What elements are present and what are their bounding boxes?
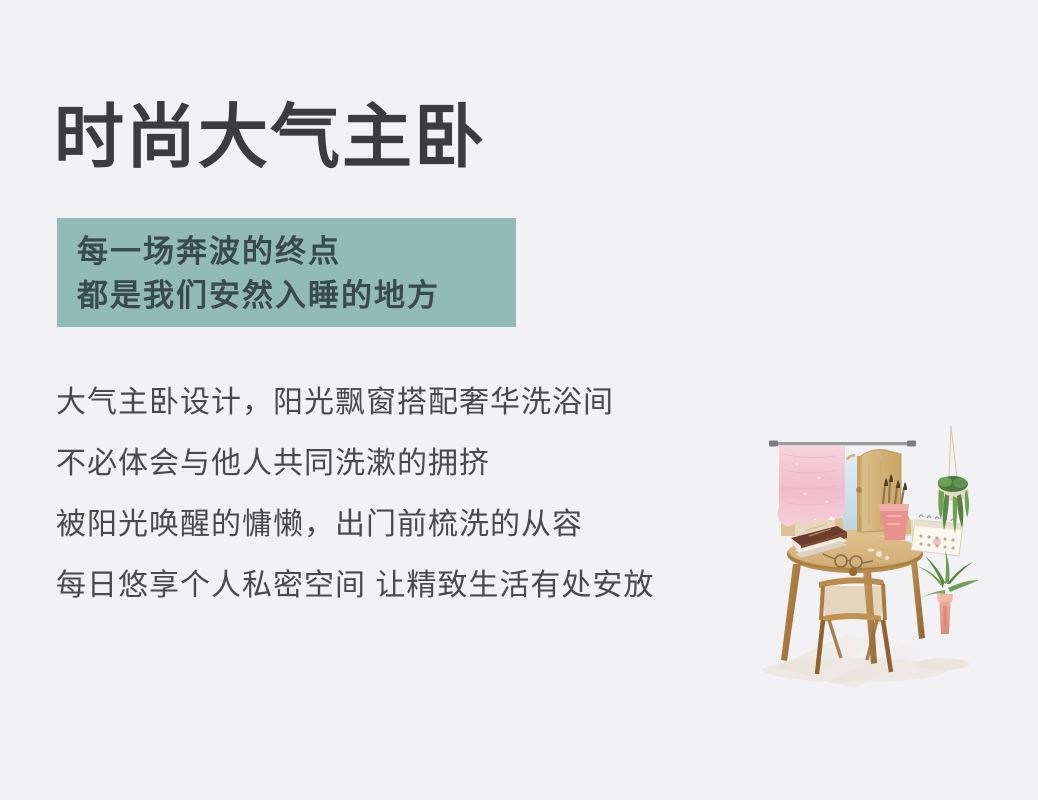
- poster-canvas: 时尚大气主卧 每一场奔波的终点 都是我们安然入睡的地方 大气主卧设计，阳光飘窗搭…: [0, 0, 1038, 800]
- floor-shadow-group: [763, 634, 969, 688]
- body-line-3: 被阳光唤醒的慵懒，出门前梳洗的从容: [56, 494, 756, 555]
- hanging-rod-icon: [769, 441, 916, 447]
- body-line-4: 每日悠享个人私密空间 让精致生活有处安放: [56, 555, 756, 616]
- body-copy: 大气主卧设计，阳光飘窗搭配奢华洗浴间 不必体会与他人共同洗漱的拥挤 被阳光唤醒的…: [56, 372, 756, 616]
- subtitle-line-2: 都是我们安然入睡的地方: [77, 274, 498, 318]
- vanity-desk-illustration: [735, 420, 1000, 705]
- subtitle-line-1: 每一场奔波的终点: [77, 230, 498, 274]
- hanging-plant: [937, 426, 969, 534]
- pink-fabric: [777, 446, 845, 527]
- body-line-1: 大气主卧设计，阳光飘窗搭配奢华洗浴间: [56, 372, 756, 433]
- subtitle-banner: 每一场奔波的终点 都是我们安然入睡的地方: [57, 218, 516, 327]
- body-line-2: 不必体会与他人共同洗漱的拥挤: [56, 433, 756, 494]
- page-title: 时尚大气主卧: [54, 104, 486, 174]
- potted-palm: [917, 550, 979, 634]
